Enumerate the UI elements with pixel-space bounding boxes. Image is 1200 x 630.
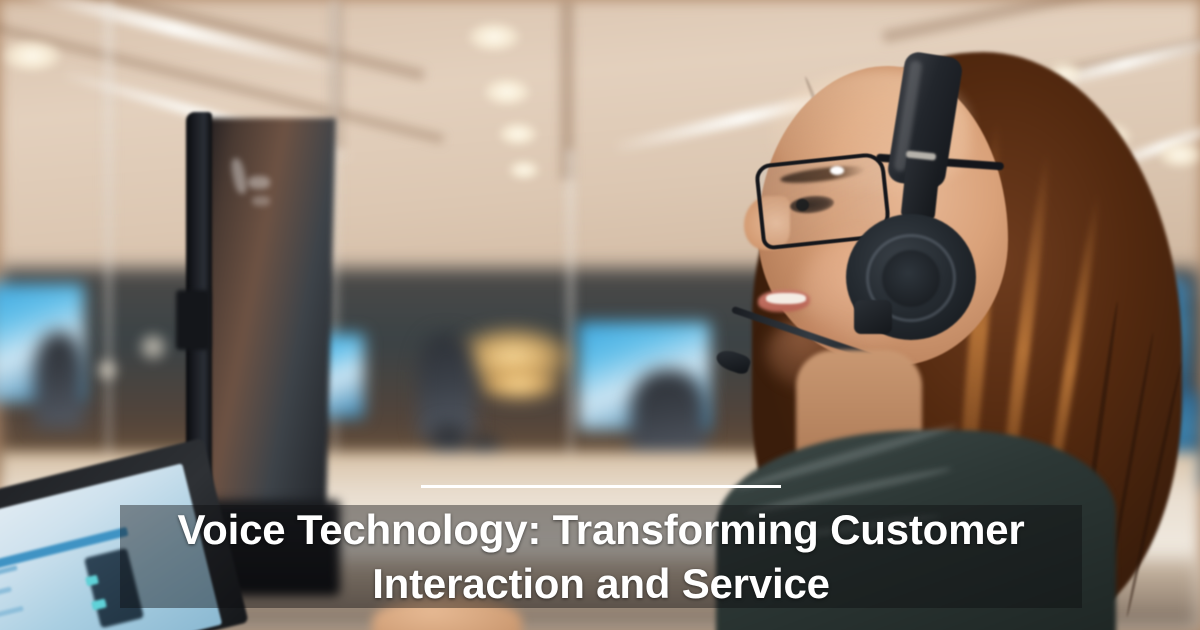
headset-slider bbox=[900, 148, 941, 221]
seated-person-silhouette bbox=[34, 332, 84, 428]
ceiling-downlight bbox=[483, 78, 531, 106]
headset-earcup-center bbox=[882, 250, 940, 307]
warm-desk-lamp bbox=[476, 366, 562, 402]
walking-person-silhouette bbox=[418, 334, 474, 438]
light-bokeh bbox=[92, 356, 122, 384]
eyeglasses-glint bbox=[830, 166, 844, 175]
headset-microphone-capsule bbox=[714, 347, 752, 376]
ceiling-downlight bbox=[508, 160, 540, 180]
light-bokeh bbox=[134, 330, 172, 364]
glass-partition-mullion bbox=[566, 150, 575, 480]
ceiling-downlight bbox=[2, 40, 62, 72]
teeth bbox=[766, 293, 806, 304]
monitor-reflection bbox=[252, 196, 270, 206]
ceiling-downlight bbox=[498, 122, 538, 146]
hero-banner: Voice Technology: Transforming Customer … bbox=[0, 0, 1200, 630]
ceiling-downlight bbox=[467, 22, 521, 52]
monitor-stand bbox=[176, 290, 210, 350]
monitor-reflection bbox=[248, 176, 270, 189]
title-overlay-band bbox=[120, 505, 1082, 608]
title-divider-rule bbox=[421, 485, 781, 488]
headset-boom-mount bbox=[854, 300, 892, 334]
glass-partition-mullion bbox=[104, 0, 113, 500]
